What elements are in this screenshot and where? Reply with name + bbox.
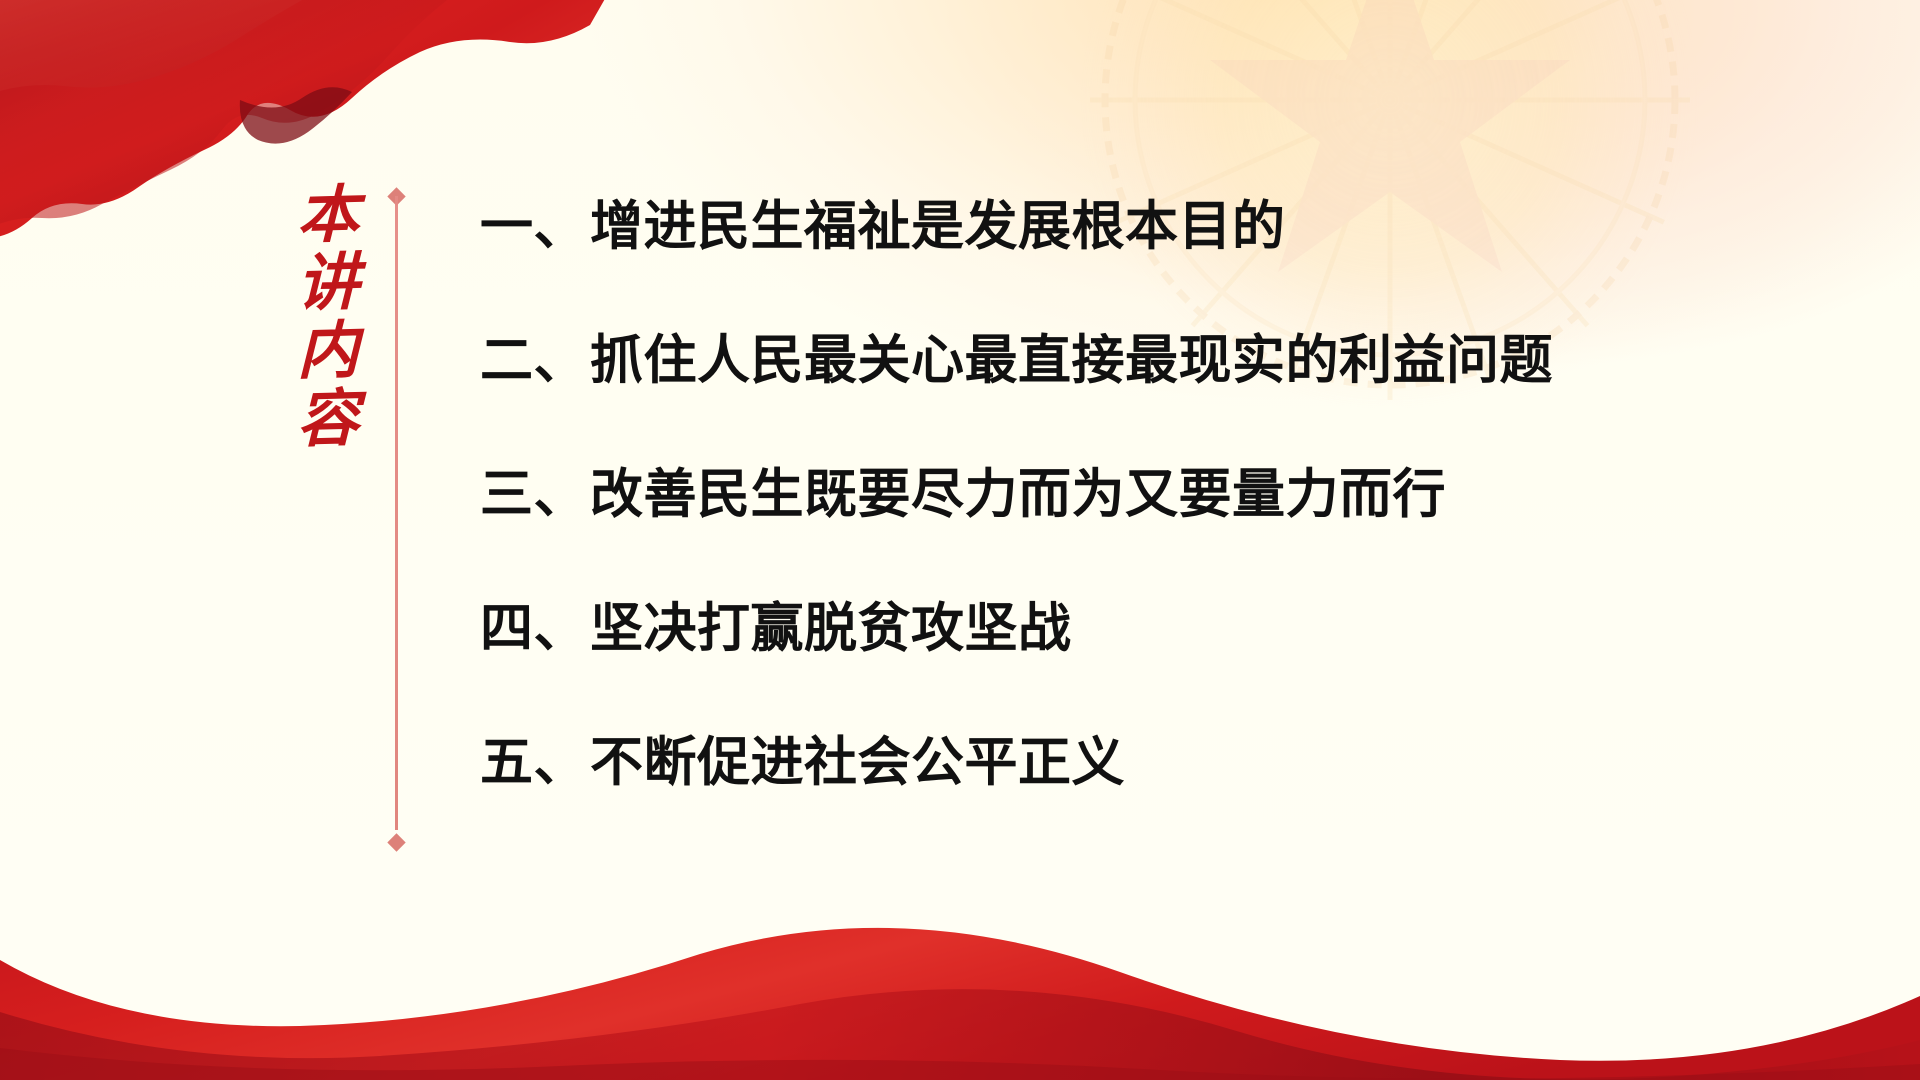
list-item-label: 不断促进社会公平正义	[590, 696, 1125, 830]
list-item-label: 改善民生既要尽力而为又要量力而行	[590, 428, 1446, 562]
list-item: 五、 不断促进社会公平正义	[480, 696, 1880, 830]
page-title: 本讲内容	[252, 181, 362, 704]
rule-bottom-diamond-icon	[387, 833, 405, 851]
list-item-label: 增进民生福祉是发展根本目的	[590, 160, 1286, 294]
list-item-number: 四、	[480, 562, 590, 696]
list-item-number: 一、	[480, 160, 590, 294]
list-item-label: 抓住人民最关心最直接最现实的利益问题	[590, 294, 1553, 428]
vertical-divider	[395, 196, 398, 830]
list-item: 三、 改善民生既要尽力而为又要量力而行	[480, 428, 1880, 562]
list-item-number: 二、	[480, 294, 590, 428]
slide-canvas: 本讲内容 一、 增进民生福祉是发展根本目的 二、 抓住人民最关心最直接最现实的利…	[0, 0, 1920, 1080]
list-item-number: 五、	[480, 696, 590, 830]
list-item-label: 坚决打赢脱贫攻坚战	[590, 562, 1072, 696]
outline-list: 一、 增进民生福祉是发展根本目的 二、 抓住人民最关心最直接最现实的利益问题 三…	[480, 160, 1880, 830]
list-item: 二、 抓住人民最关心最直接最现实的利益问题	[480, 294, 1880, 428]
list-item: 一、 增进民生福祉是发展根本目的	[480, 160, 1880, 294]
list-item-number: 三、	[480, 428, 590, 562]
red-silk-wave-decoration	[0, 900, 1920, 1080]
list-item: 四、 坚决打赢脱贫攻坚战	[480, 562, 1880, 696]
